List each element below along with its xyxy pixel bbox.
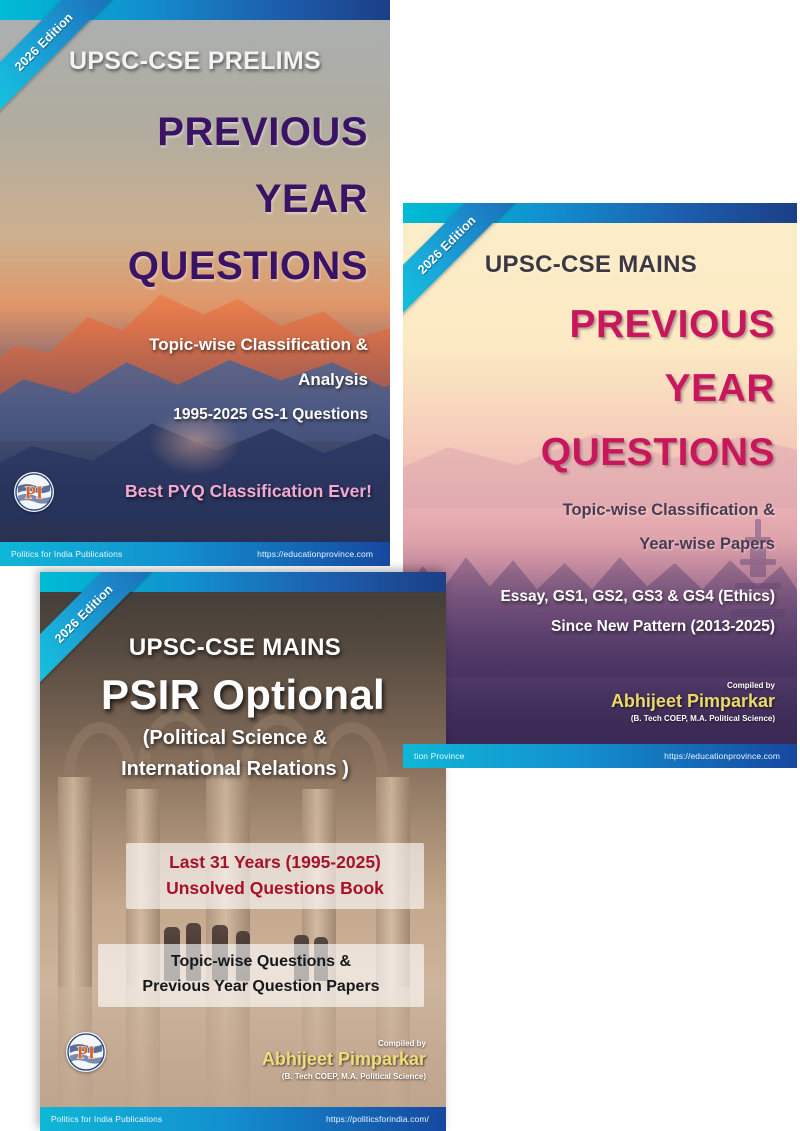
publisher-logo-icon: PI — [14, 472, 54, 512]
psir-highlight-panel-red: Last 31 Years (1995-2025) Unsolved Quest… — [126, 843, 424, 909]
mains-author-block: Compiled by Abhijeet Pimparkar (B. Tech … — [611, 681, 775, 723]
psir-footer-publisher: Politics for India Publications — [51, 1114, 162, 1124]
psir-red-line-1: Last 31 Years (1995-2025) — [134, 849, 416, 875]
psir-ribbon-label: 2026 Edition — [52, 582, 116, 646]
prelims-subtitle-3: 1995-2025 GS-1 Questions — [0, 406, 368, 424]
prelims-ribbon-label: 2026 Edition — [12, 10, 76, 74]
prelims-footer-publisher: Politics for India Publications — [11, 549, 122, 559]
psir-edition-ribbon: 2026 Edition — [40, 572, 175, 707]
mains-subtitle-1: Topic-wise Classification & — [403, 501, 775, 520]
book-cover-mains-pyq[interactable]: UPSC-CSE MAINS PREVIOUS YEAR QUESTIONS T… — [403, 203, 797, 768]
psir-paren-line-1: (Political Science & — [40, 727, 430, 750]
mains-edition-ribbon: 2026 Edition — [403, 203, 538, 338]
mains-compiled-label: Compiled by — [611, 681, 775, 690]
publisher-logo-icon: PI — [66, 1032, 106, 1072]
svg-text:PI: PI — [77, 1043, 95, 1063]
psir-black-line-2: Previous Year Question Papers — [106, 975, 416, 1000]
mains-footer-publisher: tion Province — [414, 751, 464, 761]
book-collage: UPSC-CSE PRELIMS PREVIOUS YEAR QUESTIONS… — [0, 0, 800, 1131]
mains-papers-line-1: Essay, GS1, GS2, GS3 & GS4 (Ethics) — [403, 588, 775, 606]
mains-title-line-2: YEAR — [403, 367, 775, 411]
psir-footer-url[interactable]: https://politicsforindia.com/ — [326, 1114, 429, 1124]
psir-paren-line-2: International Relations ) — [40, 758, 430, 781]
prelims-tagline: Best PYQ Classification Ever! — [0, 481, 372, 502]
psir-red-line-2: Unsolved Questions Book — [134, 875, 416, 901]
svg-text:PI: PI — [25, 483, 43, 503]
prelims-title-line-3: QUESTIONS — [0, 244, 368, 289]
psir-author-block: Compiled by Abhijeet Pimparkar (B. Tech … — [262, 1039, 426, 1081]
mains-title-line-3: QUESTIONS — [403, 431, 775, 475]
mains-footer: tion Province https://educationprovince.… — [403, 744, 797, 768]
prelims-edition-ribbon: 2026 Edition — [0, 0, 135, 135]
psir-author-name: Abhijeet Pimparkar — [262, 1049, 426, 1070]
prelims-footer-url[interactable]: https://educationprovince.com — [257, 549, 373, 559]
psir-author-credentials: (B. Tech COEP, M.A. Political Science) — [262, 1072, 426, 1081]
mains-ribbon-label: 2026 Edition — [415, 213, 479, 277]
prelims-footer: Politics for India Publications https://… — [0, 542, 390, 566]
psir-black-line-1: Topic-wise Questions & — [106, 950, 416, 975]
psir-compiled-label: Compiled by — [262, 1039, 426, 1048]
book-cover-prelims[interactable]: UPSC-CSE PRELIMS PREVIOUS YEAR QUESTIONS… — [0, 0, 390, 566]
prelims-subtitle-1: Topic-wise Classification & — [0, 335, 368, 355]
book-cover-psir-optional[interactable]: UPSC-CSE MAINS PSIR Optional (Political … — [40, 572, 446, 1131]
mains-author-name: Abhijeet Pimparkar — [611, 691, 775, 712]
prelims-title-line-2: YEAR — [0, 177, 368, 222]
mains-footer-url[interactable]: https://educationprovince.com — [664, 751, 780, 761]
mains-subtitle-2: Year-wise Papers — [403, 535, 775, 554]
prelims-subtitle-2: Analysis — [0, 370, 368, 390]
mains-author-credentials: (B. Tech COEP, M.A. Political Science) — [611, 714, 775, 723]
psir-footer: Politics for India Publications https://… — [40, 1107, 446, 1131]
psir-highlight-panel-black: Topic-wise Questions & Previous Year Que… — [98, 944, 424, 1007]
mains-papers-line-2: Since New Pattern (2013-2025) — [403, 618, 775, 636]
